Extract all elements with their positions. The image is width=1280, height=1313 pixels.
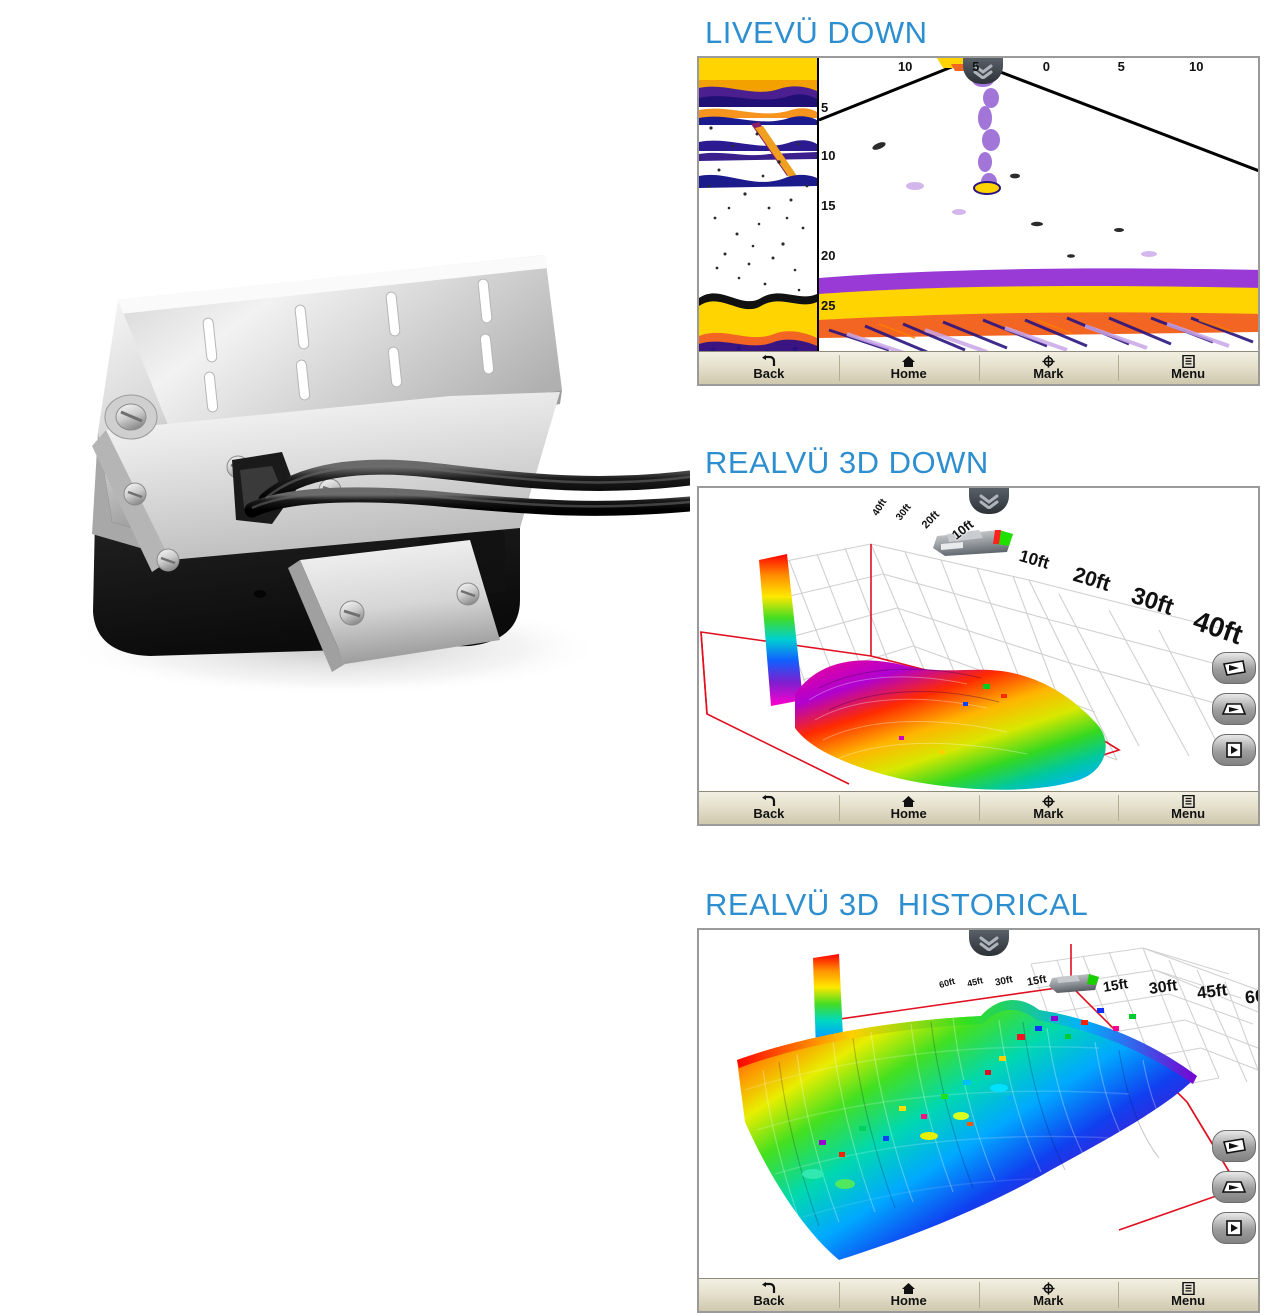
mark-button[interactable]: Mark xyxy=(979,352,1119,384)
panel-title-livevu-down: LIVEVÜ DOWN xyxy=(705,16,1280,50)
sonar-display-realvu-3d-historical[interactable]: 60ft 45ft 30ft 15ft 15ft 30ft 45ft 60ft xyxy=(697,928,1260,1313)
sonar-display-livevu-down[interactable]: 10 5 0 5 10 5 10 15 20 25 xyxy=(697,56,1260,386)
top-view-icon xyxy=(1223,1219,1245,1237)
menu-button[interactable]: Menu xyxy=(1118,792,1258,824)
sonar-toolbar: Back Home Mark Menu xyxy=(699,351,1258,384)
sonar-toolbar: Back Home Mark Menu xyxy=(699,791,1258,824)
flat-view-icon xyxy=(1221,700,1247,718)
scale-label-right: 45ft xyxy=(1196,980,1228,1004)
sonar-display-realvu-3d-down[interactable]: 40ft 30ft 20ft 10ft 10ft 20ft 30ft 40ft xyxy=(697,486,1260,826)
top-view-icon xyxy=(1223,741,1245,759)
home-label: Home xyxy=(891,1294,927,1308)
home-button[interactable]: Home xyxy=(839,1279,979,1311)
back-label: Back xyxy=(753,367,784,381)
scale-label-right: 60ft xyxy=(1244,984,1260,1008)
view-angle-1-button[interactable] xyxy=(1212,652,1256,684)
home-label: Home xyxy=(891,367,927,381)
back-label: Back xyxy=(753,1294,784,1308)
mark-label: Mark xyxy=(1033,807,1063,821)
panel-title-realvu-3d-down: REALVÜ 3D DOWN xyxy=(705,446,1280,480)
back-button[interactable]: Back xyxy=(699,352,839,384)
home-label: Home xyxy=(891,807,927,821)
panel-title-realvu-3d-historical: REALVÜ 3D HISTORICAL xyxy=(705,888,1280,922)
menu-button[interactable]: Menu xyxy=(1118,352,1258,384)
realvu-3d-scene xyxy=(699,488,1258,791)
panel-livevu-down: LIVEVÜ DOWN xyxy=(697,16,1280,386)
livevu-beam-view xyxy=(817,58,1258,351)
mark-button[interactable]: Mark xyxy=(979,792,1119,824)
flat-view-icon xyxy=(1221,1178,1247,1196)
ruler-tick: 5 xyxy=(972,59,979,74)
home-button[interactable]: Home xyxy=(839,352,979,384)
panel-realvu-3d-down: REALVÜ 3D DOWN xyxy=(697,446,1280,826)
ruler-tick: 5 xyxy=(1118,59,1125,74)
sonar-toolbar: Back Home Mark Menu xyxy=(699,1278,1258,1311)
traditional-sonar-strip xyxy=(699,58,817,351)
menu-label: Menu xyxy=(1171,807,1205,821)
panel-realvu-3d-historical: REALVÜ 3D HISTORICAL xyxy=(697,888,1280,1313)
lateral-distance-ruler: 10 5 0 5 10 xyxy=(817,59,1258,77)
perspective-view-icon xyxy=(1221,1137,1247,1155)
view-mode-buttons xyxy=(1212,652,1256,766)
view-angle-2-button[interactable] xyxy=(1212,1171,1256,1203)
back-label: Back xyxy=(753,807,784,821)
menu-label: Menu xyxy=(1171,1294,1205,1308)
menu-label: Menu xyxy=(1171,367,1205,381)
view-angle-1-button[interactable] xyxy=(1212,1130,1256,1162)
perspective-view-icon xyxy=(1221,659,1247,677)
ruler-tick: 10 xyxy=(1189,59,1203,74)
product-photo xyxy=(0,0,690,900)
back-button[interactable]: Back xyxy=(699,1279,839,1311)
ruler-tick: 0 xyxy=(1043,59,1050,74)
view-angle-3-button[interactable] xyxy=(1212,1212,1256,1244)
home-button[interactable]: Home xyxy=(839,792,979,824)
menu-button[interactable]: Menu xyxy=(1118,1279,1258,1311)
view-angle-3-button[interactable] xyxy=(1212,734,1256,766)
view-angle-2-button[interactable] xyxy=(1212,693,1256,725)
view-mode-buttons xyxy=(1212,1130,1256,1244)
mark-button[interactable]: Mark xyxy=(979,1279,1119,1311)
mark-label: Mark xyxy=(1033,1294,1063,1308)
mark-label: Mark xyxy=(1033,367,1063,381)
ruler-tick: 10 xyxy=(898,59,912,74)
back-button[interactable]: Back xyxy=(699,792,839,824)
